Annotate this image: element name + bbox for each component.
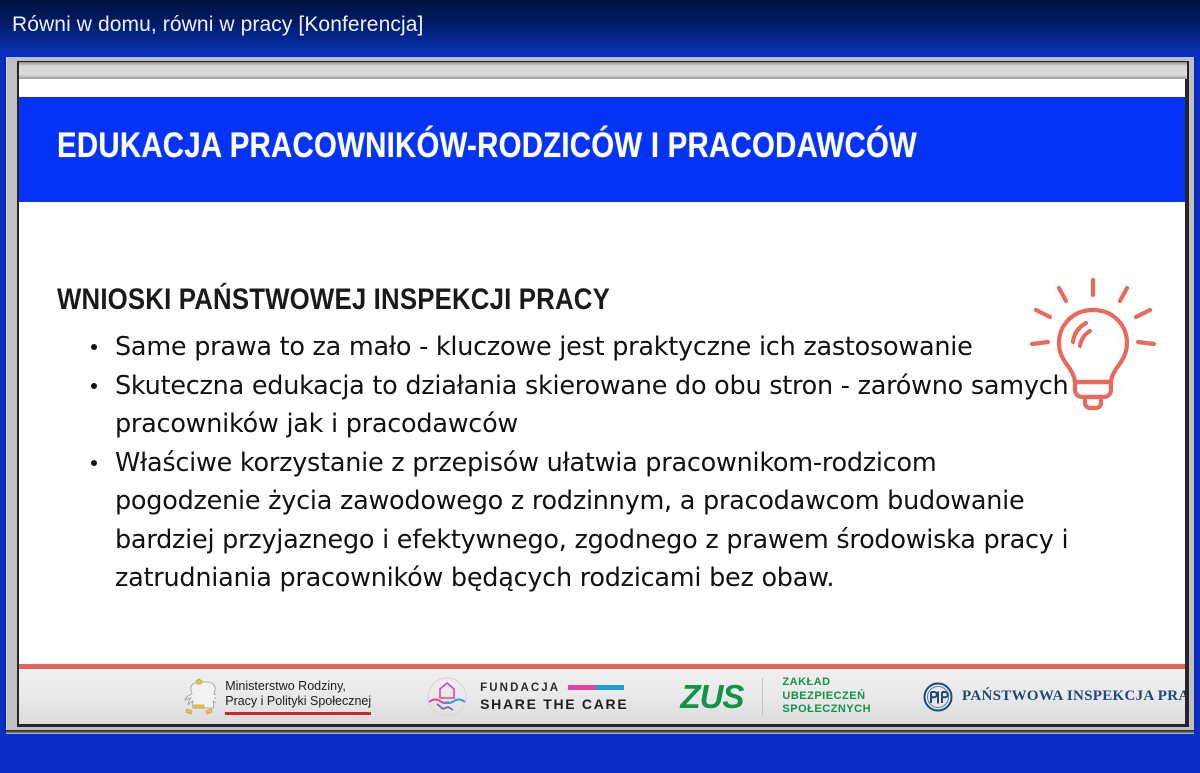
list-item-text: Same prawa to za mało - kluczowe jest pr… xyxy=(115,332,973,362)
list-item: Same prawa to za mało - kluczowe jest pr… xyxy=(79,328,1079,367)
list-item-text: Właściwe korzystanie z przepisów ułatwia… xyxy=(115,448,1068,594)
list-item: Właściwe korzystanie z przepisów ułatwia… xyxy=(79,444,1079,598)
pip-circle-icon xyxy=(923,682,953,712)
handshake-house-icon xyxy=(423,676,471,718)
zus-wordmark: ZUS xyxy=(680,680,743,714)
list-item-text: Skuteczna edukacja to działania skierowa… xyxy=(115,371,1068,440)
zus-line-3: SPOŁECZNYCH xyxy=(782,703,871,717)
bullet-list: Same prawa to za mało - kluczowe jest pr… xyxy=(79,328,1079,598)
stc-line-1: FUNDACJA xyxy=(480,682,560,694)
zus-line-1: ZAKŁAD xyxy=(782,676,871,690)
pip-logo-text: PAŃSTWOWA INSPEKCJA PRACY xyxy=(962,688,1185,705)
zus-subtitle: ZAKŁAD UBEZPIECZEŃ SPOŁECZNYCH xyxy=(782,676,871,717)
lightbulb-icon xyxy=(1029,274,1157,414)
stc-line-1-wrap: FUNDACJA xyxy=(480,682,628,694)
slide-title: EDUKACJA PRACOWNIKÓW-RODZICÓW I PRACODAW… xyxy=(57,126,917,166)
zus-logo: ZUS ZAKŁAD UBEZPIECZEŃ SPOŁECZNYCH xyxy=(680,676,871,717)
zus-line-2: UBEZPIECZEŃ xyxy=(782,690,871,704)
stc-line-2: SHARE THE CARE xyxy=(480,696,628,712)
slide-canvas: EDUKACJA PRACOWNIKÓW-RODZICÓW I PRACODAW… xyxy=(19,79,1185,724)
slide-body: WNIOSKI PAŃSTWOWEJ INSPEKCJI PRACY Same … xyxy=(19,202,1185,664)
slide-header-band: EDUKACJA PRACOWNIKÓW-RODZICÓW I PRACODAW… xyxy=(19,97,1185,202)
window-title-bar: Równi w domu, równi w pracy [Konferencja… xyxy=(0,0,1200,52)
slide-footer: Ministerstwo Rodziny, Pracy i Polityki S… xyxy=(19,669,1185,724)
polish-eagle-icon xyxy=(182,677,216,717)
stc-gradient-dash-icon xyxy=(568,685,624,690)
share-the-care-text: FUNDACJA SHARE THE CARE xyxy=(480,682,628,712)
section-heading: WNIOSKI PAŃSTWOWEJ INSPEKCJI PRACY xyxy=(57,284,610,316)
slide-frame: EDUKACJA PRACOWNIKÓW-RODZICÓW I PRACODAW… xyxy=(6,57,1194,730)
ministry-line-1: Ministerstwo Rodziny, xyxy=(225,679,371,694)
slide-bottom-edge xyxy=(6,730,1194,734)
list-item: Skuteczna edukacja to działania skierowa… xyxy=(79,367,1079,444)
ministry-logo: Ministerstwo Rodziny, Pracy i Polityki S… xyxy=(182,677,371,717)
slide-top-strip xyxy=(19,62,1187,79)
ministry-red-bar xyxy=(225,712,371,715)
bullet-dot-icon xyxy=(91,460,97,466)
zus-separator xyxy=(762,678,763,716)
ministry-line-2: Pracy i Polityki Społecznej xyxy=(225,694,371,709)
share-the-care-logo: FUNDACJA SHARE THE CARE xyxy=(423,676,628,718)
ministry-logo-text: Ministerstwo Rodziny, Pracy i Polityki S… xyxy=(225,679,371,715)
pip-logo: PAŃSTWOWA INSPEKCJA PRACY xyxy=(923,682,1185,712)
bullet-dot-icon xyxy=(91,344,97,350)
logo-row: Ministerstwo Rodziny, Pracy i Polityki S… xyxy=(19,669,1185,724)
bullet-dot-icon xyxy=(91,383,97,389)
window-title: Równi w domu, równi w pracy [Konferencja… xyxy=(12,13,423,37)
